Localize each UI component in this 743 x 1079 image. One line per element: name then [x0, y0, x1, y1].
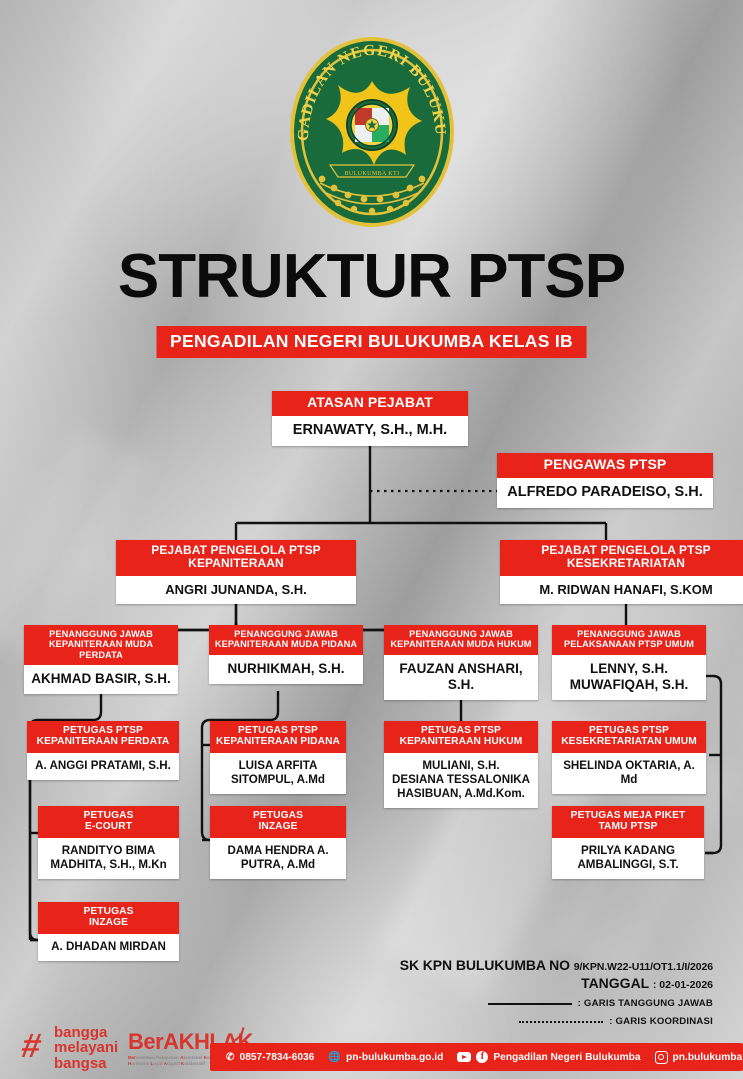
tanggal-value: : 02-01-2026	[653, 979, 713, 991]
node-person: ALFREDO PARADEISO, S.H.	[497, 478, 713, 508]
bangga-melayani-bangsa-logo: # bangga melayani bangsa	[22, 1023, 134, 1071]
legend-row-solid: : GARIS TANGGUNG JAWAB	[400, 998, 713, 1009]
node-petugas-inzage-perdata[interactable]: PETUGASINZAGE A. DHADAN MIRDAN	[38, 902, 179, 961]
node-title: PETUGASINZAGE	[210, 806, 346, 838]
footer-bar: # bangga melayani bangsa BerAKHLAK ⟩ Ber…	[0, 1017, 743, 1079]
poster-canvas: PENGADILAN NEGERI BULUKUMBA	[0, 0, 743, 1079]
globe-icon: 🌐	[328, 1052, 341, 1063]
node-petugas-ptsp-pidana[interactable]: PETUGAS PTSPKEPANITERAAN PIDANA LUISA AR…	[210, 721, 346, 794]
node-person: LUISA ARFITASITOMPUL, A.Md	[210, 753, 346, 794]
node-person: MULIANI, S.H.DESIANA TESSALONIKAHASIBUAN…	[384, 753, 538, 808]
tanggal-label: TANGGAL	[581, 975, 649, 991]
youtube-icon	[457, 1052, 471, 1062]
node-petugas-inzage-pidana[interactable]: PETUGASINZAGE DAMA HENDRA A.PUTRA, A.Md	[210, 806, 346, 879]
node-title: PEJABAT PENGELOLA PTSPKESEKRETARIATAN	[500, 540, 743, 576]
node-title: PENANGGUNG JAWABKEPANITERAAN MUDA PIDANA	[209, 625, 363, 655]
node-petugas-meja-piket-tamu[interactable]: PETUGAS MEJA PIKETTAMU PTSP PRILYA KADAN…	[552, 806, 704, 879]
facebook-icon: f	[476, 1051, 488, 1063]
node-title: PETUGAS PTSPKESEKRETARIATAN UMUM	[552, 721, 706, 753]
node-person: AKHMAD BASIR, S.H.	[24, 665, 178, 694]
node-petugas-ecourt[interactable]: PETUGASE-COURT RANDITYO BIMAMADHITA, S.H…	[38, 806, 179, 879]
node-title: PETUGAS PTSPKEPANITERAAN PIDANA	[210, 721, 346, 753]
node-atasan-pejabat[interactable]: ATASAN PEJABAT ERNAWATY, S.H., M.H.	[272, 391, 468, 446]
node-person: A. DHADAN MIRDAN	[38, 934, 179, 961]
node-title: PENANGGUNG JAWABPELAKSANAAN PTSP UMUM	[552, 625, 706, 655]
node-person: FAUZAN ANSHARI, S.H.	[384, 655, 538, 700]
sk-line: SK KPN BULUKUMBA NO 9/KPN.W22-U11/OT1.1/…	[400, 957, 713, 973]
node-person: DAMA HENDRA A.PUTRA, A.Md	[210, 838, 346, 879]
node-pj-kepaniteraan-muda-pidana[interactable]: PENANGGUNG JAWABKEPANITERAAN MUDA PIDANA…	[209, 625, 363, 684]
court-seal-logo: PENGADILAN NEGERI BULUKUMBA	[286, 33, 458, 231]
hashtag-icon: #	[19, 1029, 44, 1063]
tanggal-line: TANGGAL : 02-01-2026	[400, 975, 713, 991]
page-subtitle: PENGADILAN NEGERI BULUKUMBA KELAS IB	[156, 326, 587, 358]
node-pejabat-pengelola-kesekretariatan[interactable]: PEJABAT PENGELOLA PTSPKESEKRETARIATAN M.…	[500, 540, 743, 604]
node-person: ANGRI JUNANDA, S.H.	[116, 576, 356, 605]
node-title: PENANGGUNG JAWABKEPANITERAAN MUDA HUKUM	[384, 625, 538, 655]
legend-label-solid: : GARIS TANGGUNG JAWAB	[578, 998, 713, 1009]
page-title: STRUKTUR PTSP	[0, 246, 743, 308]
node-person: ERNAWATY, S.H., M.H.	[272, 416, 468, 446]
node-person: PRILYA KADANGAMBALINGGI, S.T.	[552, 838, 704, 879]
sk-label: SK KPN BULUKUMBA NO	[400, 957, 570, 973]
node-title: ATASAN PEJABAT	[272, 391, 468, 416]
node-pejabat-pengelola-kepaniteraan[interactable]: PEJABAT PENGELOLA PTSPKEPANITERAAN ANGRI…	[116, 540, 356, 604]
seal-ribbon-text: BULUKUMBA KTI	[344, 171, 399, 177]
node-person: NURHIKMAH, S.H.	[209, 655, 363, 684]
contact-website[interactable]: 🌐 pn-bulukumba.go.id	[328, 1052, 443, 1063]
node-title: PENGAWAS PTSP	[497, 453, 713, 478]
node-person: RANDITYO BIMAMADHITA, S.H., M.Kn	[38, 838, 179, 879]
node-person: SHELINDA OKTARIA, A. Md	[552, 753, 706, 794]
node-person: LENNY, S.H.MUWAFIQAH, S.H.	[552, 655, 706, 700]
node-petugas-ptsp-kesekretariatan-umum[interactable]: PETUGAS PTSPKESEKRETARIATAN UMUM SHELIND…	[552, 721, 706, 794]
instagram-icon	[655, 1051, 668, 1064]
node-title: PEJABAT PENGELOLA PTSPKEPANITERAAN	[116, 540, 356, 576]
node-pj-kepaniteraan-muda-perdata[interactable]: PENANGGUNG JAWABKEPANITERAAN MUDA PERDAT…	[24, 625, 178, 694]
contact-bar: ✆ 0857-7834-6036 🌐 pn-bulukumba.go.id f …	[210, 1043, 743, 1071]
node-title: PETUGAS PTSPKEPANITERAAN HUKUM	[384, 721, 538, 753]
bangga-line2: melayani	[54, 1040, 118, 1055]
node-person: A. ANGGI PRATAMI, S.H.	[27, 753, 179, 780]
solid-line-sample	[488, 1003, 572, 1005]
node-pengawas-ptsp[interactable]: PENGAWAS PTSP ALFREDO PARADEISO, S.H.	[497, 453, 713, 508]
bangga-line3: bangsa	[54, 1056, 118, 1071]
node-title: PENANGGUNG JAWABKEPANITERAAN MUDA PERDAT…	[24, 625, 178, 665]
contact-instagram[interactable]: pn.bulukumba	[655, 1051, 743, 1064]
contact-social[interactable]: f Pengadilan Negeri Bulukumba	[457, 1051, 640, 1063]
node-petugas-ptsp-hukum[interactable]: PETUGAS PTSPKEPANITERAAN HUKUM MULIANI, …	[384, 721, 538, 808]
node-title: PETUGAS MEJA PIKETTAMU PTSP	[552, 806, 704, 838]
whatsapp-icon: ✆	[226, 1052, 235, 1063]
node-petugas-ptsp-perdata[interactable]: PETUGAS PTSPKEPANITERAAN PERDATA A. ANGG…	[27, 721, 179, 780]
node-title: PETUGASINZAGE	[38, 902, 179, 934]
sk-number: 9/KPN.W22-U11/OT1.1/I/2026	[574, 961, 713, 973]
node-title: PETUGAS PTSPKEPANITERAAN PERDATA	[27, 721, 179, 753]
node-pj-pelaksanaan-ptsp-umum[interactable]: PENANGGUNG JAWABPELAKSANAAN PTSP UMUM LE…	[552, 625, 706, 700]
node-pj-kepaniteraan-muda-hukum[interactable]: PENANGGUNG JAWABKEPANITERAAN MUDA HUKUM …	[384, 625, 538, 700]
contact-phone[interactable]: ✆ 0857-7834-6036	[226, 1052, 314, 1063]
node-title: PETUGASE-COURT	[38, 806, 179, 838]
node-person: M. RIDWAN HANAFI, S.KOM	[500, 576, 743, 605]
bangga-line1: bangga	[54, 1025, 118, 1040]
